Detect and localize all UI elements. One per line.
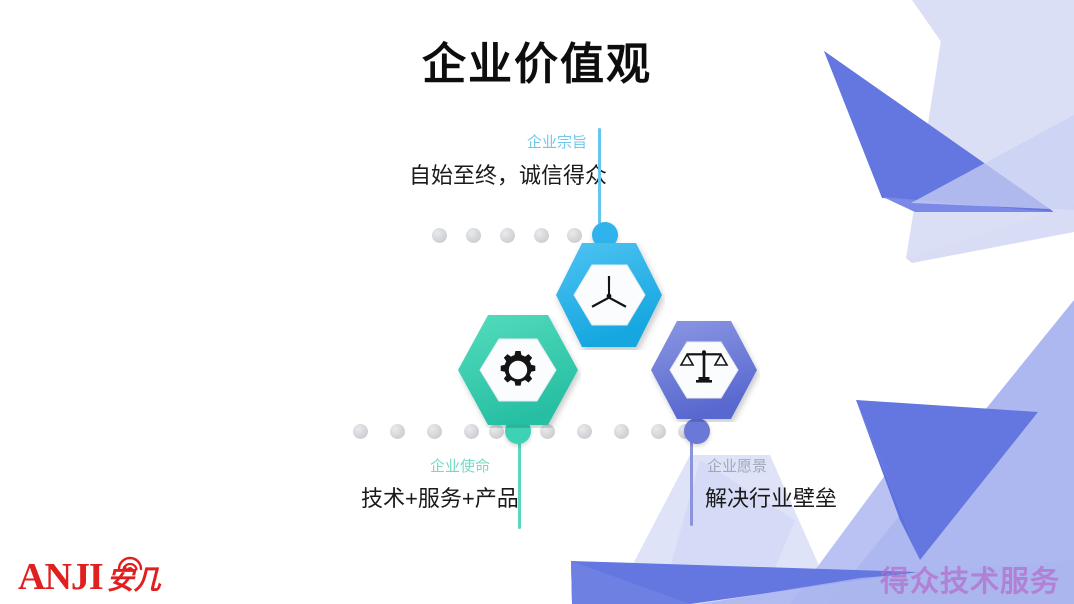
decorative-dot xyxy=(614,424,629,439)
deco-triangle-bottom-blue2 xyxy=(856,400,920,560)
decorative-dot xyxy=(500,228,515,243)
logo-chinese-text: 安几 xyxy=(107,567,161,594)
signal-arc-icon xyxy=(117,555,143,571)
decorative-dot xyxy=(353,424,368,439)
decorative-dot xyxy=(390,424,405,439)
decorative-dot xyxy=(651,424,666,439)
connector-line-mission xyxy=(518,443,521,529)
gear-icon xyxy=(501,351,536,386)
node-label-purpose: 企业宗旨 xyxy=(527,131,587,152)
deco-triangle-upper-pale5 xyxy=(911,115,1074,210)
slide-canvas: 企业价值观 企业宗旨 自始至终，诚信得众 企业使命 技术+服务+产品 企业愿景 … xyxy=(0,0,1074,604)
deco-triangle-top-pale4 xyxy=(906,205,1074,263)
deco-triangle-top-blue3 xyxy=(883,197,1054,212)
node-text-vision: 解决行业壁垒 xyxy=(705,481,837,513)
deco-triangle-bottom-center-blue xyxy=(571,561,918,604)
decorative-dot xyxy=(466,228,481,243)
decorative-dot xyxy=(427,424,442,439)
hexagon-purpose[interactable] xyxy=(552,240,665,350)
node-label-mission: 企业使命 xyxy=(430,455,490,476)
page-title: 企业价值观 xyxy=(0,28,1074,92)
deco-triangle-center-pale xyxy=(612,455,836,604)
decorative-dot xyxy=(534,228,549,243)
connector-line-vision xyxy=(690,440,693,526)
watermark-text: 得众技术服务 xyxy=(880,558,1060,600)
node-text-mission: 技术+服务+产品 xyxy=(361,481,519,513)
decorative-dot xyxy=(432,228,447,243)
node-text-purpose: 自始至终，诚信得众 xyxy=(409,158,607,190)
company-logo: ANJI 安几 xyxy=(18,558,161,596)
logo-latin-text: ANJI xyxy=(18,558,103,596)
deco-triangle-bottom-center-blue2 xyxy=(571,561,690,604)
deco-triangle-bottom-blue xyxy=(856,400,1038,560)
connector-line-purpose xyxy=(598,128,601,224)
node-label-vision: 企业愿景 xyxy=(707,455,767,476)
